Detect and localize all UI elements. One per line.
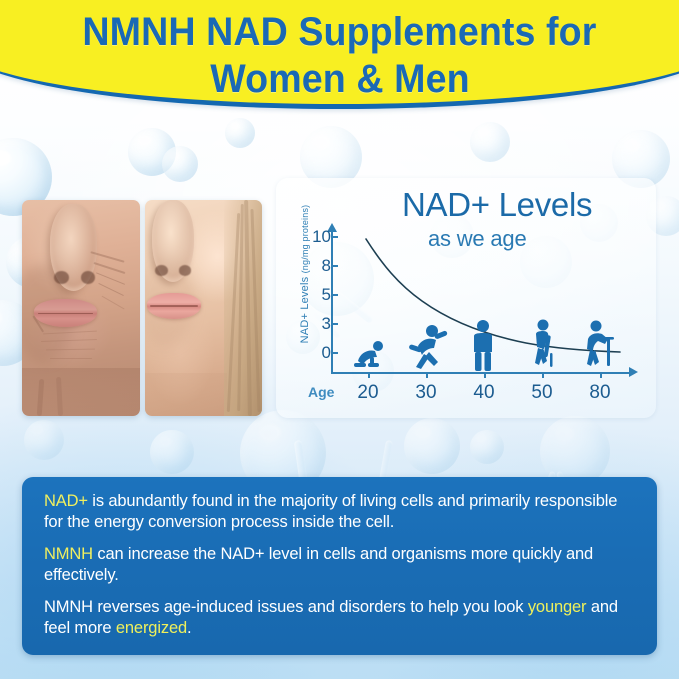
benefit-paragraph-3-part3: .	[187, 619, 191, 637]
before-after-photo-pair	[22, 200, 262, 416]
nad-decay-curve	[286, 206, 654, 418]
hunched-elder-with-cane-icon	[582, 318, 622, 371]
chart-plot-area: NAD+ Levels (ng/mg proteins) 10 8 5 3 0	[286, 206, 654, 418]
highlight-younger: younger	[528, 598, 587, 616]
header-banner: NMNH NAD Supplements for Women & Men	[0, 0, 679, 109]
header-title-line2: Women & Men	[210, 56, 469, 103]
photo-before-older-woman	[22, 200, 140, 416]
hair-strands	[224, 200, 262, 416]
highlight-nmnh: NMNH	[44, 545, 93, 563]
highlight-energized: energized	[116, 619, 187, 637]
nad-levels-chart-card: NAD+ Levels as we age NAD+ Levels (ng/mg…	[276, 178, 656, 418]
walking-elder-icon	[526, 319, 558, 371]
benefits-info-panel: NAD+ is abundantly found in the majority…	[22, 477, 657, 655]
header-title-line1: NMNH NAD Supplements for	[82, 9, 596, 56]
benefit-paragraph-2-text: can increase the NAD+ level in cells and…	[44, 545, 593, 584]
benefit-paragraph-1: NAD+ is abundantly found in the majority…	[44, 491, 637, 532]
poster-canvas: NMNH NAD Supplements for Women & Men	[0, 0, 679, 679]
benefit-paragraph-2: NMNH can increase the NAD+ level in cell…	[44, 544, 637, 585]
crawling-baby-icon	[348, 337, 390, 371]
photo-after-younger-woman	[145, 200, 263, 416]
benefit-paragraph-3: NMNH reverses age-induced issues and dis…	[44, 597, 637, 638]
highlight-nad-plus: NAD+	[44, 492, 88, 510]
standing-adult-icon	[468, 319, 498, 371]
benefit-paragraph-3-part1: NMNH reverses age-induced issues and dis…	[44, 598, 528, 616]
benefit-paragraph-1-text: is abundantly found in the majority of l…	[44, 492, 617, 531]
running-person-icon	[404, 324, 448, 371]
